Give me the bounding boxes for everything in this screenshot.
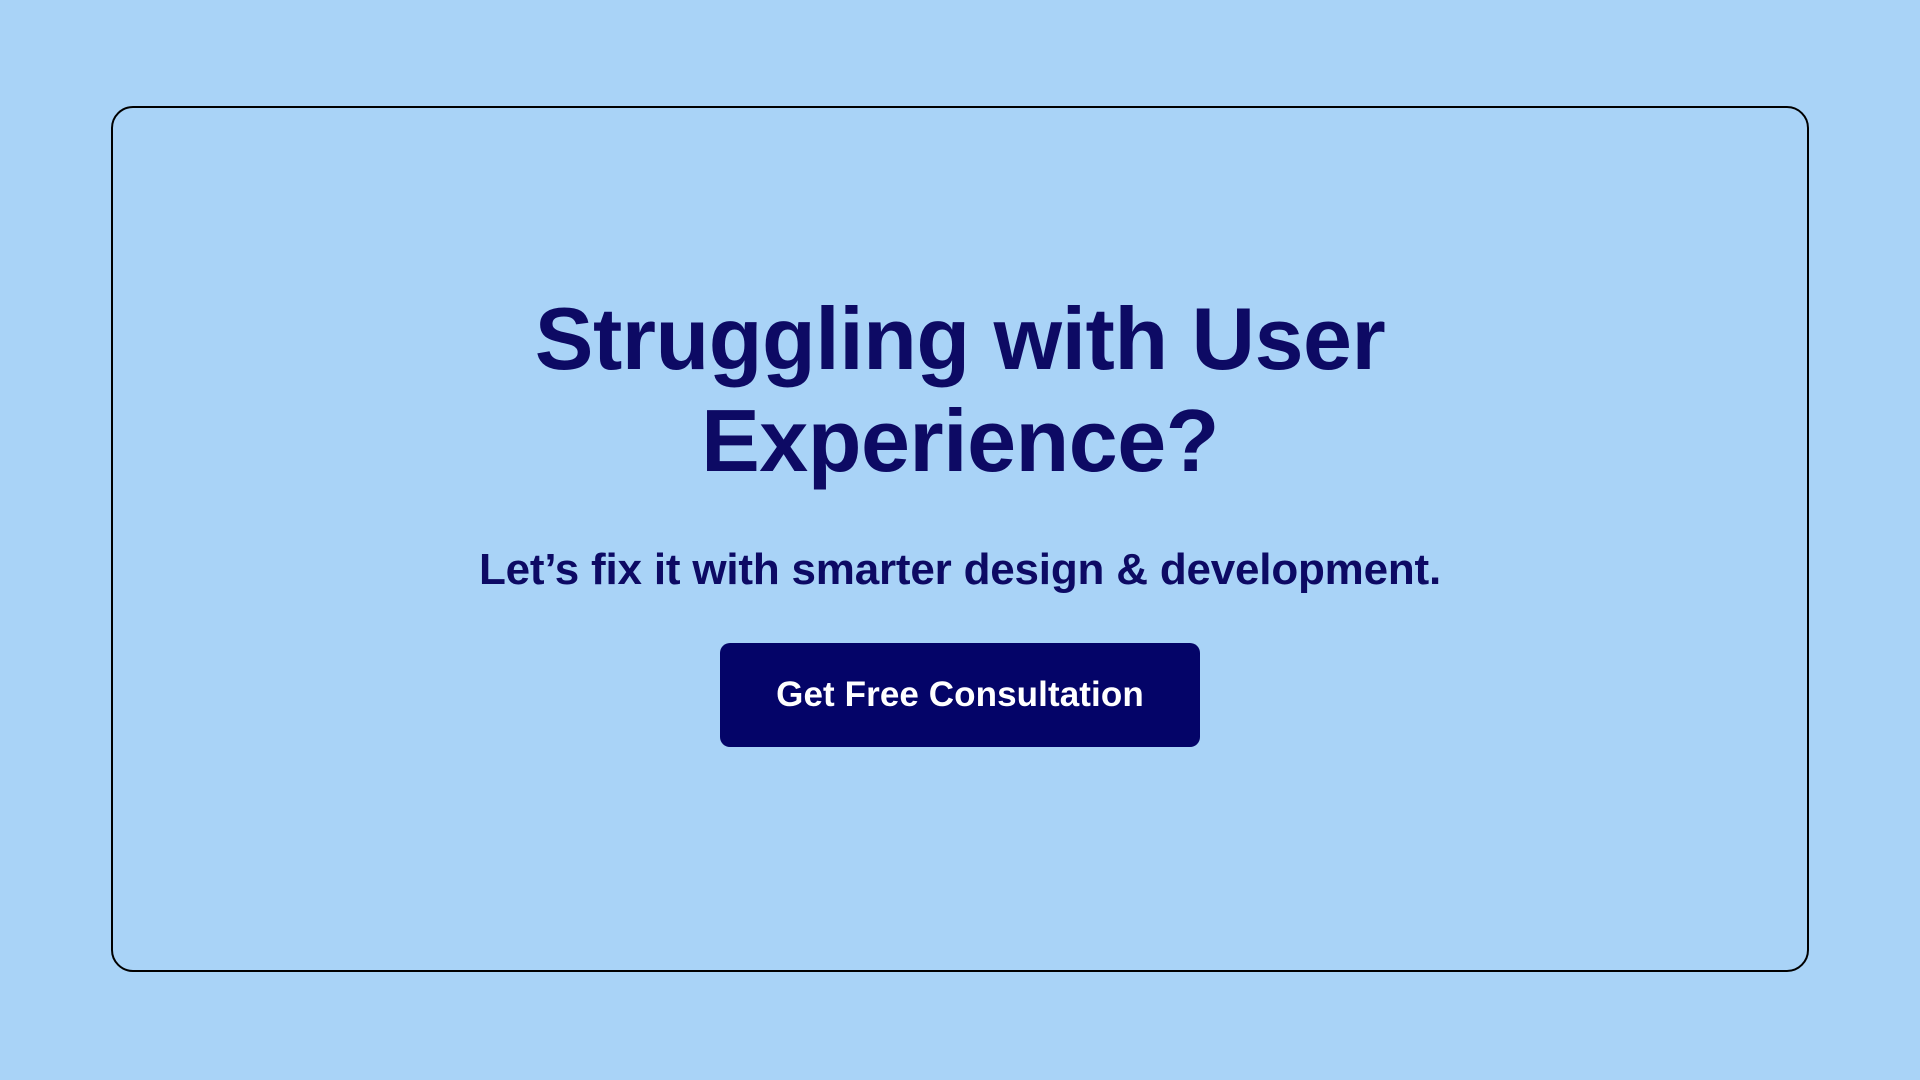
get-free-consultation-button[interactable]: Get Free Consultation xyxy=(720,643,1200,747)
subheadline: Let’s fix it with smarter design & devel… xyxy=(113,544,1807,597)
headline: Struggling with User Experience? xyxy=(113,288,1807,492)
promo-banner: Struggling with User Experience? Let’s f… xyxy=(0,0,1920,1080)
banner-content: Struggling with User Experience? Let’s f… xyxy=(113,108,1807,970)
bordered-card-frame: Struggling with User Experience? Let’s f… xyxy=(111,106,1809,972)
cta-container: Get Free Consultation xyxy=(113,643,1807,747)
headline-line-1: Struggling with User xyxy=(293,288,1627,390)
headline-line-2: Experience? xyxy=(293,390,1627,492)
